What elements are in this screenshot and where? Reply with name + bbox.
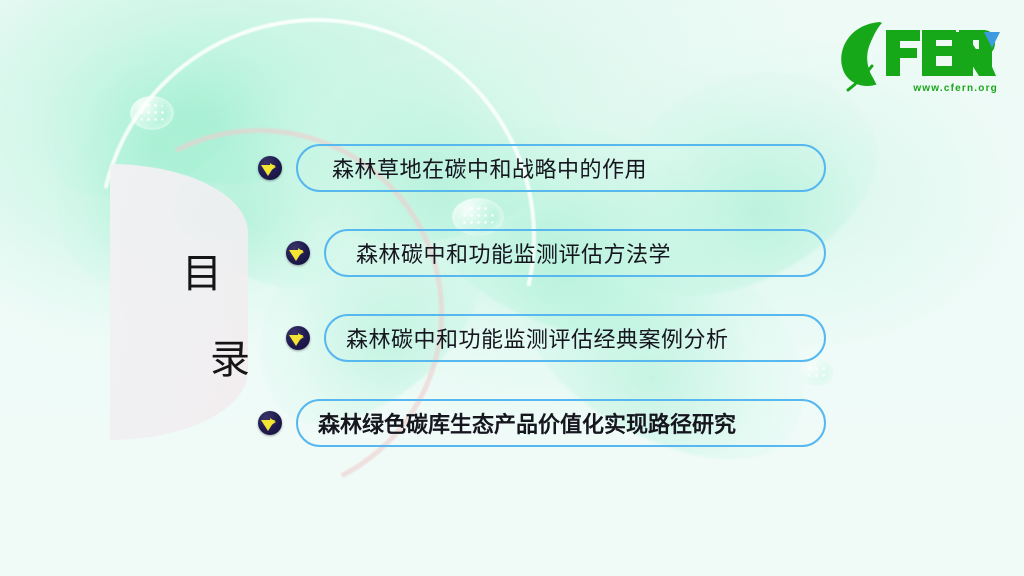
toc-item-4-pill[interactable]: 森林绿色碳库生态产品价值化实现路径研究 <box>296 399 826 447</box>
bullet-marker-icon <box>258 156 282 180</box>
toc-item-2-pill[interactable]: 森林碳中和功能监测评估方法学 <box>324 229 826 277</box>
toc-item-4[interactable]: 森林绿色碳库生态产品价值化实现路径研究 <box>258 399 826 447</box>
toc-item-1[interactable]: 森林草地在碳中和战略中的作用 <box>258 144 826 192</box>
cfern-logo[interactable]: www.cfern.org <box>834 14 1002 98</box>
toc-item-3-pill[interactable]: 森林碳中和功能监测评估经典案例分析 <box>324 314 826 362</box>
toc-item-2[interactable]: 森林碳中和功能监测评估方法学 <box>286 229 826 277</box>
toc-item-3[interactable]: 森林碳中和功能监测评估经典案例分析 <box>286 314 826 362</box>
toc-item-2-label: 森林碳中和功能监测评估方法学 <box>346 237 671 269</box>
toc-item-3-label: 森林碳中和功能监测评估经典案例分析 <box>346 322 729 354</box>
leaf-icon <box>841 22 886 90</box>
bullet-marker-icon <box>286 241 310 265</box>
toc-item-4-label: 森林绿色碳库生态产品价值化实现路径研究 <box>318 407 736 439</box>
toc-item-1-label: 森林草地在碳中和战略中的作用 <box>318 152 647 184</box>
slide-canvas: 目 录 森林草地在碳中和战略中的作用 森林碳中和功能监测评估方法学 <box>0 0 1024 576</box>
bullet-marker-icon <box>286 326 310 350</box>
toc-item-1-pill[interactable]: 森林草地在碳中和战略中的作用 <box>296 144 826 192</box>
logo-url-text: www.cfern.org <box>913 83 998 94</box>
bullet-marker-icon <box>258 411 282 435</box>
